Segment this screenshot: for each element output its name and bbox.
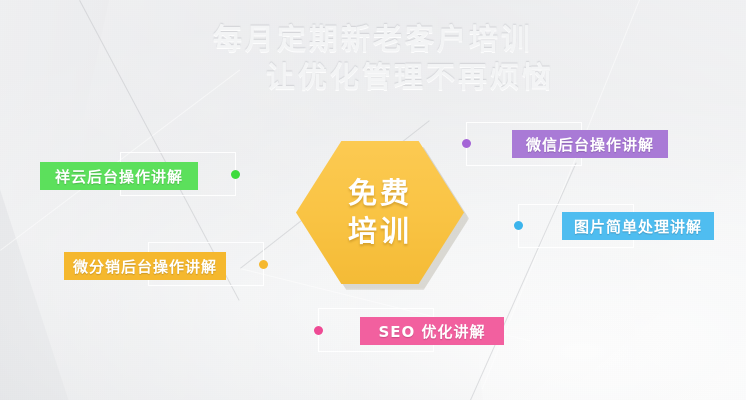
- page-title: 每月定期新老客户培训 让优化管理不再烦恼: [0, 20, 746, 97]
- topic-dot-weifenxiao: [259, 260, 268, 269]
- poster-canvas: 每月定期新老客户培训 让优化管理不再烦恼 祥云后台操作讲解 微分销后台操作讲解 …: [0, 0, 746, 400]
- topic-label-tupian[interactable]: 图片简单处理讲解: [562, 212, 714, 240]
- page-title-line-2: 让优化管理不再烦恼: [0, 58, 746, 96]
- center-hexagon-line-1: 免费: [348, 175, 412, 212]
- page-title-line-1: 每月定期新老客户培训: [0, 20, 746, 58]
- topic-label-weixin[interactable]: 微信后台操作讲解: [512, 130, 668, 158]
- topic-dot-seo: [314, 326, 323, 335]
- topic-label-weixin-text: 微信后台操作讲解: [526, 134, 654, 155]
- topic-dot-xiangyun: [231, 170, 240, 179]
- topic-label-weifenxiao-text: 微分销后台操作讲解: [73, 256, 217, 277]
- topic-dot-tupian: [514, 221, 523, 230]
- topic-label-seo-text: SEO 优化讲解: [378, 321, 485, 342]
- topic-label-xiangyun-text: 祥云后台操作讲解: [55, 166, 183, 187]
- topic-label-weifenxiao[interactable]: 微分销后台操作讲解: [64, 252, 226, 280]
- center-hexagon-line-2: 培训: [348, 213, 412, 250]
- topic-label-xiangyun[interactable]: 祥云后台操作讲解: [40, 162, 198, 190]
- topic-label-tupian-text: 图片简单处理讲解: [574, 216, 702, 237]
- center-hexagon[interactable]: 免费 培训: [296, 141, 464, 284]
- topic-label-seo[interactable]: SEO 优化讲解: [360, 317, 504, 345]
